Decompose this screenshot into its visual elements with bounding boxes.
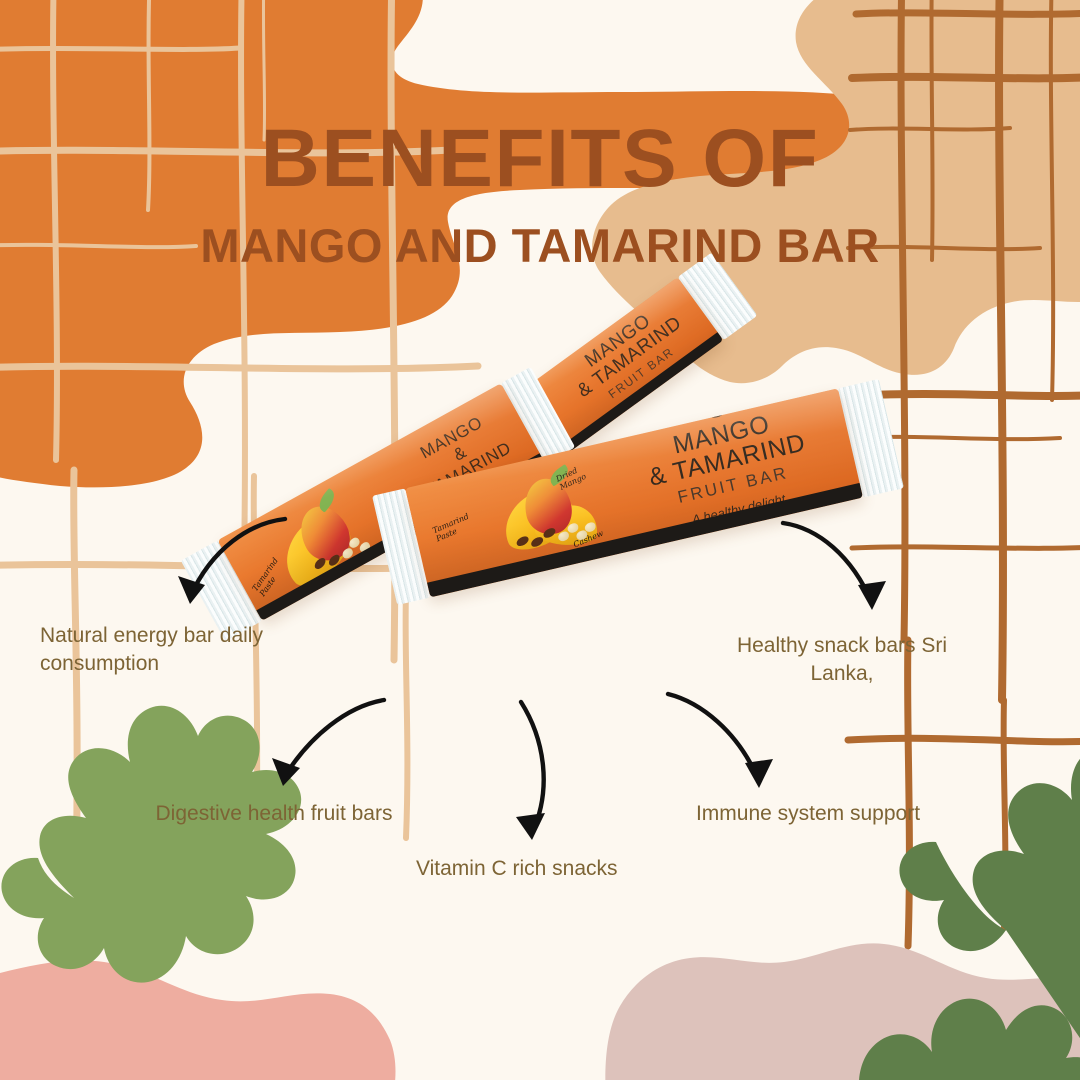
page-title: BENEFITS OF	[0, 118, 1080, 200]
arrowhead-healthy-snack	[858, 581, 886, 610]
callout-digestive-health: Digestive health fruit bars	[146, 800, 402, 828]
poster-canvas: BENEFITS OF MANGO AND TAMARIND BAR MANGO…	[0, 0, 1080, 1080]
callout-healthy-snack: Healthy snack bars Sri Lanka,	[708, 632, 976, 687]
callout-natural-energy: Natural energy bar daily consumption	[40, 622, 280, 677]
arrowhead-immune	[745, 759, 773, 788]
page-subtitle: MANGO AND TAMARIND BAR	[0, 222, 1080, 269]
arrowhead-vitamin-c	[516, 813, 545, 840]
arrow-to-immune	[668, 694, 759, 781]
callout-vitamin-c: Vitamin C rich snacks	[416, 855, 668, 883]
arrow-to-vitamin-c	[521, 702, 544, 833]
page-title-block: BENEFITS OF MANGO AND TAMARIND BAR	[0, 118, 1080, 269]
callout-immune-support: Immune system support	[658, 800, 958, 828]
arrow-to-healthy-snack	[783, 523, 872, 603]
arrow-to-digestive	[283, 700, 384, 779]
